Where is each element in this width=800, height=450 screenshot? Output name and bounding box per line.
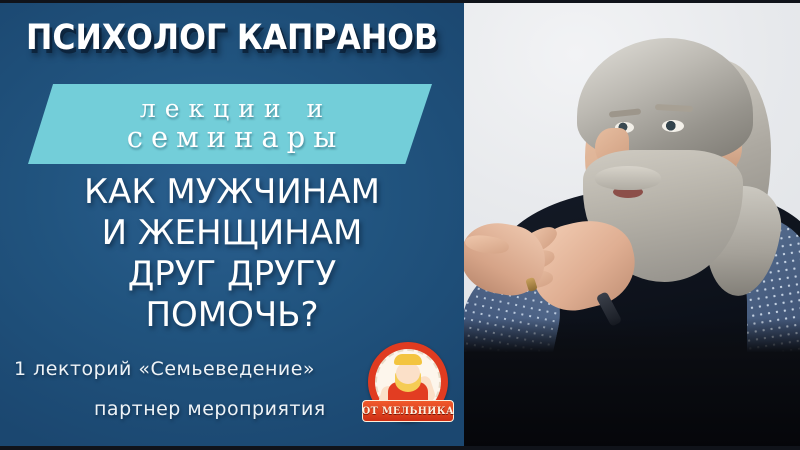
headline-line-3: ДРУГ ДРУГУ xyxy=(0,254,464,295)
brand-title: ПСИХОЛОГ КАПРАНОВ xyxy=(23,18,441,58)
partner-logo-banner: ОТ МЕЛЬНИКА xyxy=(362,400,454,422)
lectures-ribbon: лекции и семинары xyxy=(28,84,432,164)
ribbon-line-2: семинары xyxy=(116,122,345,153)
lecture-series-label: 1 лекторий «Семьеведение» xyxy=(14,358,315,380)
event-partner-label: партнер мероприятия xyxy=(94,398,326,420)
headline-line-1: КАК МУЖЧИНАМ xyxy=(0,172,464,213)
speaker-eye-far xyxy=(662,120,684,132)
headline-line-2: И ЖЕНЩИНАМ xyxy=(0,213,464,254)
miller-face-icon xyxy=(396,362,420,384)
frame-bottom-edge xyxy=(0,446,800,450)
frame-top-edge xyxy=(0,0,800,3)
partner-logo: ОТ МЕЛЬНИКА xyxy=(362,342,454,430)
miller-hat-icon xyxy=(394,354,422,365)
headline: КАК МУЖЧИНАМ И ЖЕНЩИНАМ ДРУГ ДРУГУ ПОМОЧ… xyxy=(0,172,464,336)
title-card: ПСИХОЛОГ КАПРАНОВ лекции и семинары КАК … xyxy=(0,0,464,450)
photo-lower-shadow xyxy=(455,318,800,450)
lectures-ribbon-text: лекции и семинары xyxy=(28,84,432,164)
speaker-photo xyxy=(455,0,800,450)
video-thumbnail: ПСИХОЛОГ КАПРАНОВ лекции и семинары КАК … xyxy=(0,0,800,450)
speaker-moustache xyxy=(595,166,661,190)
headline-line-4: ПОМОЧЬ? xyxy=(0,295,464,336)
partner-logo-banner-text: ОТ МЕЛЬНИКА xyxy=(362,406,454,417)
ribbon-line-1: лекции и xyxy=(128,95,332,122)
